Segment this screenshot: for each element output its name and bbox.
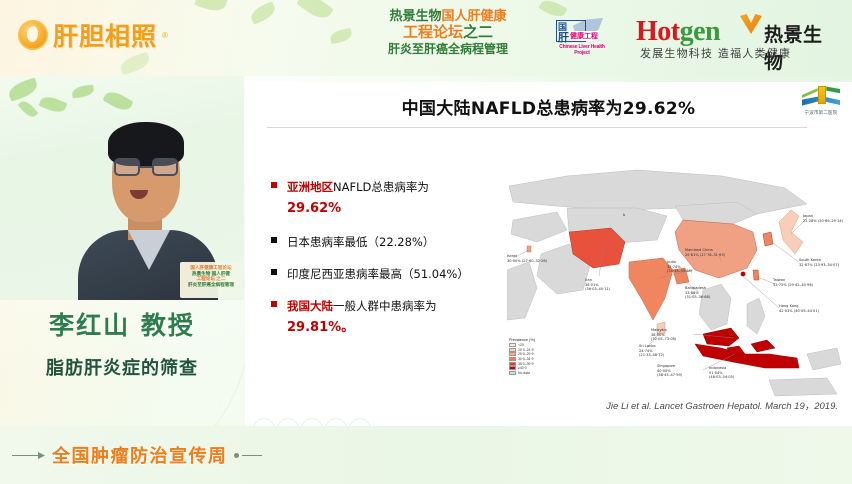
legend-swatch (509, 371, 516, 375)
legend-swatch (509, 348, 516, 352)
slide-bullet-list: 亚洲地区NAFLD总患病率为29.62% 日本患病率最低（22.28%） 印度尼… (271, 178, 499, 352)
slide-title: 中国大陆NAFLD总患病率为29.62% (245, 94, 852, 119)
legend-swatch (509, 366, 516, 370)
legend-swatch (509, 362, 516, 366)
title-divider (267, 127, 807, 128)
leaf-decoration-icon (39, 94, 68, 116)
hotgen-wordmark: Hotgen (636, 16, 720, 48)
map-label-taiwan: Taiwan33·75% (29·42–40·96) (773, 278, 813, 287)
legend-swatch (509, 352, 516, 356)
forum-title-graphic: 热景生物国人肝健康 工程论坛之二 肝炎至肝癌全病程管理 (352, 10, 544, 55)
hospital-name: 宁波市第二医院 (796, 110, 846, 116)
bullet-square-icon (271, 182, 277, 188)
legend-swatch (509, 343, 516, 347)
map-legend: Prevalence (%) <20 20·0–24·9 25·0–29·9 3… (509, 338, 555, 375)
forum-title-line1-a: 热景生物 (389, 9, 441, 24)
speaker-nameplate: 李红山 教授 脂肪肝炎症的筛查 (0, 300, 244, 396)
leaf-decoration-icon (6, 77, 39, 101)
map-label-bangladesh: Bangladesh33·86%(31·05–36·68) (685, 286, 710, 300)
map-region-taiwan (753, 270, 759, 280)
forum-title-line1-b: 国人肝健康 (442, 9, 507, 24)
glasses-left-lens (114, 158, 140, 176)
bullet-value: 29.81%。 (287, 319, 499, 338)
forum-title-line3: 肝炎至肝癌全病程管理 (388, 42, 508, 56)
leaf-decoration-icon (194, 0, 227, 14)
hotgen-tagline: 发展生物科技 造福人类健康 (640, 45, 791, 61)
bullet-square-icon (271, 269, 277, 275)
bullet-square-icon (271, 237, 277, 243)
legend-label: 30·0–34·9 (518, 357, 533, 361)
legend-row: No data (509, 371, 555, 376)
legend-label: 25·0–29·9 (518, 352, 533, 356)
legend-title: Prevalence (%) (509, 338, 555, 342)
speaker-name: 李红山 教授 (0, 306, 244, 342)
slide-citation: Jie Li et al. Lancet Gastroen Hepatol. M… (245, 398, 852, 412)
map-label-sri-lanka: Sri Lanka24·74%(21·33–48·72) (639, 344, 664, 358)
list-item: 印度尼西亚患病率最高（51.04%） (271, 265, 499, 283)
dot-dash-icon (234, 452, 264, 459)
forum-title-line2-a: 工程论坛 (403, 23, 463, 41)
bullet-rest: 一般人群中患病率为 (333, 299, 437, 313)
legend-label: ≥40·0 (518, 366, 527, 370)
footer-campaign-text: 全国肿瘤防治宣传周 (52, 442, 228, 468)
map-label-malaysia: Malaysia38·50%(32·05–73·08) (651, 328, 676, 342)
bullet-value: 29.62% (287, 200, 499, 219)
arrow-right-icon (12, 452, 46, 459)
hotgen-hot: Hot (636, 16, 680, 47)
hotgen-logo: Hotgen 热景生物 发展生物科技 造福人类健康 (636, 14, 836, 60)
overlay-line4: 肝炎至肝癌全病程管理 (180, 282, 242, 288)
liver-badge-icon (18, 20, 48, 50)
broadcast-stage: 肝胆相照 ® 热景生物国人肝健康 工程论坛之二 肝炎至肝癌全病程管理 国 肝 健… (0, 0, 852, 484)
speaker-topic: 脂肪肝炎症的筛查 (0, 354, 244, 380)
hospital-logo: 宁波市第二医院 (796, 84, 846, 122)
map-label-south-korea: South Korea32·87% (23·93–34·07) (799, 258, 839, 267)
header-banner: 肝胆相照 ® 热景生物国人肝健康 工程论坛之二 肝炎至肝癌全病程管理 国 肝 健… (0, 0, 852, 76)
clhp-char-jiankang-gongcheng: 健康工程 (570, 31, 598, 41)
leaf-decoration-icon (248, 1, 277, 25)
bullet-text: 亚洲地区NAFLD总患病率为29.62% (287, 180, 499, 219)
hospital-logo-pillar (818, 86, 826, 104)
bullet-text: 我国大陆一般人群中患病率为29.81%。 (287, 299, 499, 338)
glasses-bridge (140, 166, 152, 168)
map-region-israel (527, 246, 531, 252)
leaf-decoration-icon (71, 85, 94, 99)
bullet-rest: NAFLD总患病率为 (333, 180, 429, 194)
clhp-english-name: Chinese Liver Health Project (556, 44, 608, 56)
list-item: 亚洲地区NAFLD总患病率为29.62% (271, 178, 499, 219)
map-label-mainland-china: Mainland China29·81% (27·78–31·93) (685, 248, 725, 257)
registered-trademark-symbol: ® (162, 31, 168, 40)
bullet-square-icon (271, 301, 277, 307)
leaf-decoration-icon (329, 28, 353, 44)
butterfly-icon (740, 14, 762, 34)
leaf-decoration-icon (18, 98, 39, 120)
clhp-char-gan: 肝 (558, 29, 569, 45)
hotgen-gen: gen (680, 16, 721, 47)
leaf-decoration-icon (102, 88, 133, 114)
leaf-decoration-icon (296, 0, 334, 23)
presentation-slide[interactable]: 中国大陆NAFLD总患病率为29.62% 宁波市第二医院 亚洲地区NAFLD总患… (245, 82, 852, 426)
legend-label: <20 (518, 343, 524, 347)
hospital-logo-mark (802, 86, 840, 108)
asia-prevalence-choropleth-map: b Israel30·00% (27·60–32·26) Iran38·01%(… (507, 158, 842, 398)
leaf-decoration-icon (118, 52, 151, 76)
map-label-iran: Iran38·01%(36·03–40·11) (585, 278, 610, 292)
legend-label: No data (518, 371, 530, 375)
footer-content: 全国肿瘤防治宣传周 (0, 444, 264, 466)
map-region-hong-kong (741, 272, 746, 277)
footer-banner: 全国肿瘤防治宣传周 (0, 426, 852, 484)
map-label-hong-kong: Hong Kong42·03% (40·05–44·01) (779, 304, 819, 313)
map-label-indonesia: Indonesia51·04%(48·03–54·05) (709, 366, 734, 380)
list-item: 我国大陆一般人群中患病率为29.81%。 (271, 297, 499, 338)
list-item: 日本患病率最低（22.28%） (271, 233, 499, 251)
forum-title-line2-b: 之二 (463, 23, 493, 41)
speaker-video-feed[interactable]: 国人肝健康工程论坛 热景生物 国人肝健 工程论坛 之二 肝炎至肝癌全病程管理 (0, 76, 244, 300)
bullet-text: 日本患病率最低（22.28%） (287, 235, 434, 249)
bullet-highlight: 亚洲地区 (287, 180, 333, 194)
legend-label: 20·0–24·9 (518, 348, 533, 352)
brand-wordmark: 肝胆相照 (53, 17, 157, 53)
legend-label: 35·0–39·9 (518, 362, 533, 366)
bullet-highlight: 我国大陆 (287, 299, 333, 313)
map-label-israel: Israel30·00% (27·60–32·26) (507, 254, 547, 263)
legend-swatch (509, 357, 516, 361)
eyeglasses-icon (114, 158, 178, 176)
overlay-forum-banner: 国人肝健康工程论坛 热景生物 国人肝健 工程论坛 之二 肝炎至肝癌全病程管理 (180, 262, 242, 298)
map-region-south-korea (763, 232, 773, 246)
map-label-singapore: Singapore40·00%(38·45–47·59) (657, 364, 682, 378)
ganggan-xiangzhao-logo: 肝胆相照 ® (18, 18, 168, 52)
map-label-japan: Japan22·28% (20·69–29·14) (803, 214, 843, 223)
map-label-india: India32·74%(31·33–33·68) (667, 260, 692, 274)
glasses-right-lens (152, 158, 178, 176)
bullet-text: 印度尼西亚患病率最高（51.04%） (287, 267, 469, 281)
chinese-liver-health-project-logo: 国 肝 健康工程 Chinese Liver Health Project (556, 18, 608, 58)
